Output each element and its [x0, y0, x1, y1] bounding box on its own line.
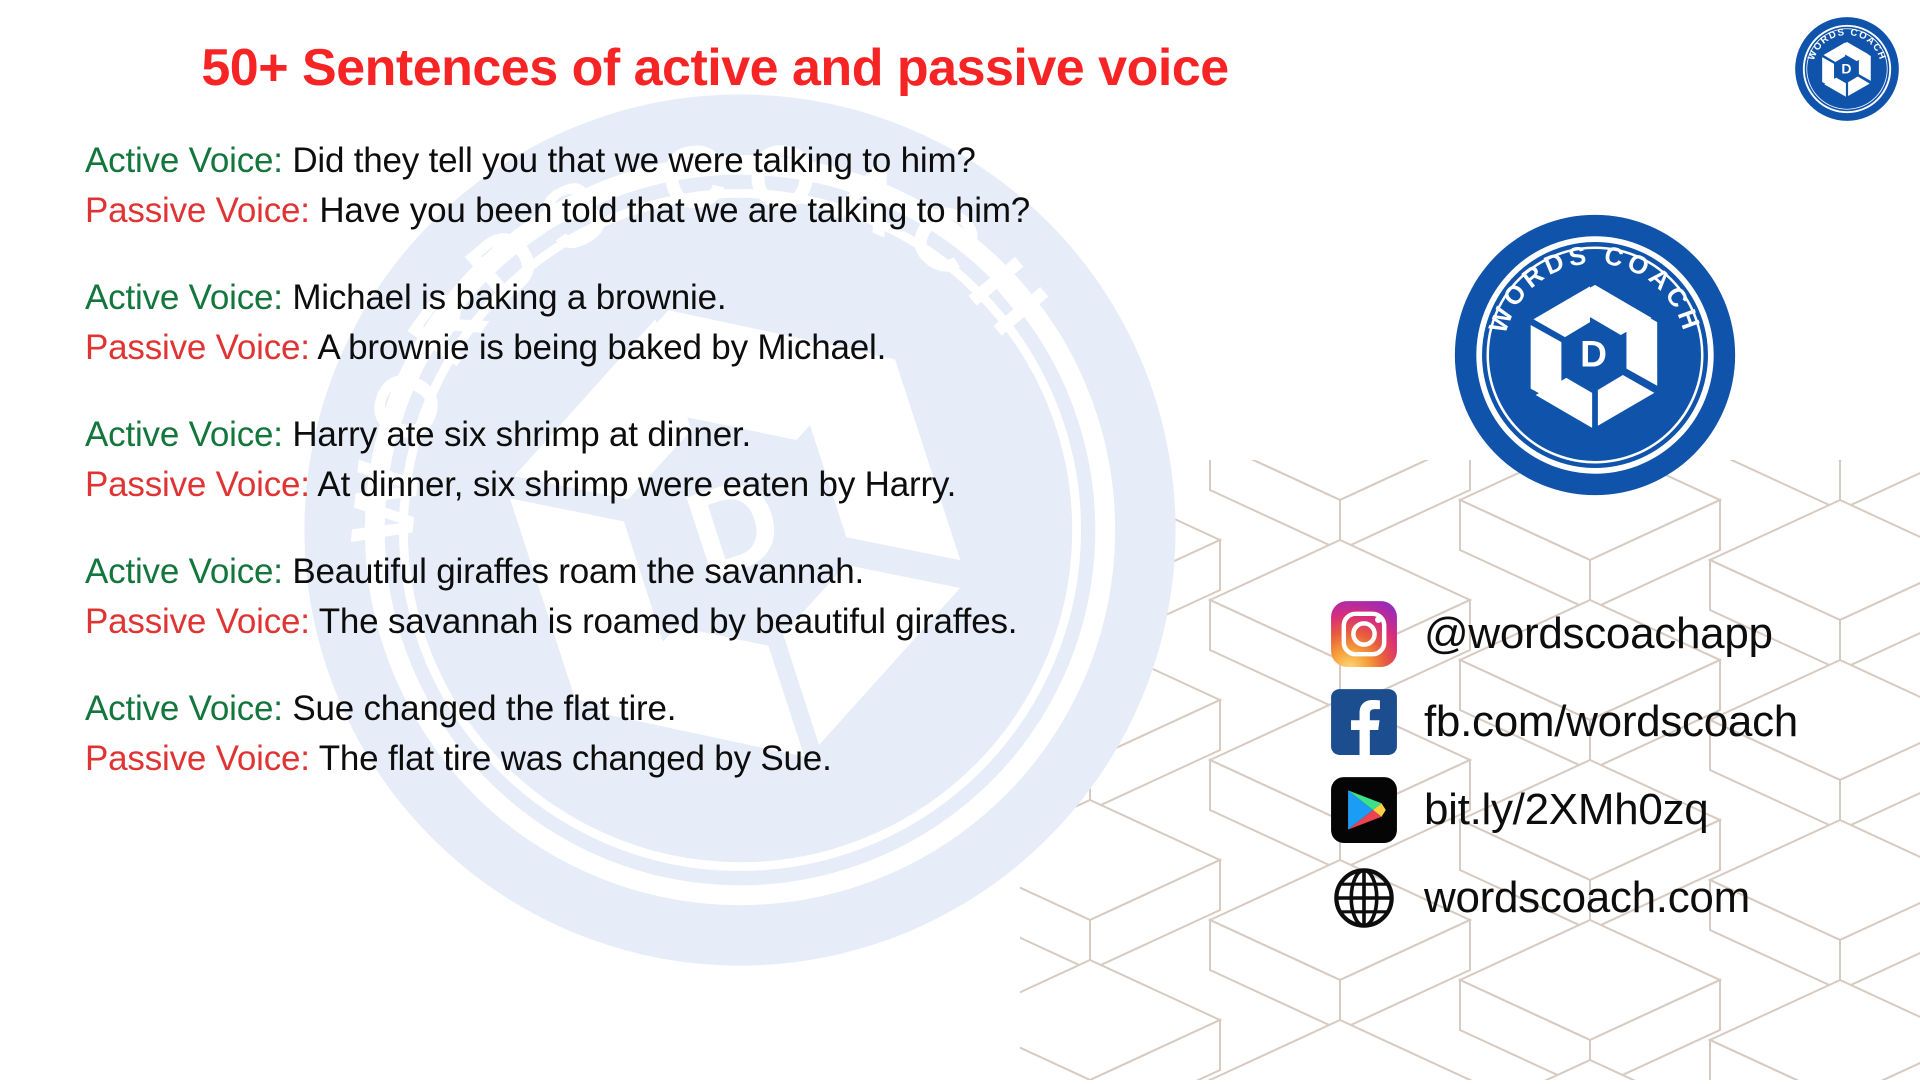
- passive-voice-sentence: The savannah is roamed by beautiful gira…: [319, 602, 1018, 641]
- passive-voice-line: Passive Voice: At dinner, six shrimp wer…: [85, 460, 1265, 510]
- passive-voice-label: Passive Voice:: [85, 465, 310, 504]
- active-voice-sentence: Beautiful giraffes roam the savannah.: [292, 552, 864, 591]
- active-voice-sentence: Michael is baking a brownie.: [292, 278, 726, 317]
- active-voice-label: Active Voice:: [85, 552, 283, 591]
- social-links: @wordscoachapp fb.com/wordscoach bit.ly/…: [1330, 590, 1798, 942]
- active-voice-line: Active Voice: Michael is baking a browni…: [85, 273, 1265, 323]
- passive-voice-sentence: A brownie is being baked by Michael.: [317, 328, 886, 367]
- passive-voice-label: Passive Voice:: [85, 328, 310, 367]
- passive-voice-label: Passive Voice:: [85, 739, 310, 778]
- social-row-website[interactable]: wordscoach.com: [1330, 854, 1798, 942]
- passive-voice-line: Passive Voice: The savannah is roamed by…: [85, 597, 1265, 647]
- passive-voice-line: Passive Voice: A brownie is being baked …: [85, 323, 1265, 373]
- sentence-list: Active Voice: Did they tell you that we …: [85, 136, 1265, 821]
- sentence-pair: Active Voice: Sue changed the flat tire.…: [85, 684, 1265, 784]
- active-voice-line: Active Voice: Sue changed the flat tire.: [85, 684, 1265, 734]
- active-voice-sentence: Sue changed the flat tire.: [292, 689, 676, 728]
- google-play-handle: bit.ly/2XMh0zq: [1424, 788, 1708, 832]
- page-title-text: 50+ Sentences of active and passive voic…: [171, 38, 1748, 98]
- instagram-icon: [1330, 600, 1398, 668]
- svg-text:D: D: [1580, 332, 1607, 374]
- active-voice-sentence: Harry ate six shrimp at dinner.: [292, 415, 751, 454]
- active-voice-label: Active Voice:: [85, 278, 283, 317]
- website-handle: wordscoach.com: [1424, 876, 1750, 920]
- facebook-icon: [1330, 688, 1398, 756]
- active-voice-label: Active Voice:: [85, 415, 283, 454]
- sentence-pair: Active Voice: Harry ate six shrimp at di…: [85, 410, 1265, 510]
- active-voice-line: Active Voice: Beautiful giraffes roam th…: [85, 547, 1265, 597]
- passive-voice-label: Passive Voice:: [85, 191, 310, 230]
- social-row-facebook[interactable]: fb.com/wordscoach: [1330, 678, 1798, 766]
- active-voice-line: Active Voice: Harry ate six shrimp at di…: [85, 410, 1265, 460]
- passive-voice-line: Passive Voice: Have you been told that w…: [85, 186, 1265, 236]
- sentence-pair: Active Voice: Did they tell you that we …: [85, 136, 1265, 236]
- social-row-google-play[interactable]: bit.ly/2XMh0zq: [1330, 766, 1798, 854]
- passive-voice-label: Passive Voice:: [85, 602, 310, 641]
- page-title: 50+ Sentences of active and passive voic…: [0, 38, 1920, 98]
- social-row-instagram[interactable]: @wordscoachapp: [1330, 590, 1798, 678]
- passive-voice-sentence: Have you been told that we are talking t…: [319, 191, 1030, 230]
- sentence-pair: Active Voice: Beautiful giraffes roam th…: [85, 547, 1265, 647]
- passive-voice-sentence: At dinner, six shrimp were eaten by Harr…: [317, 465, 956, 504]
- facebook-handle: fb.com/wordscoach: [1424, 700, 1798, 744]
- svg-text:D: D: [1841, 60, 1851, 76]
- brand-logo-large: WORDS COACH D: [1452, 212, 1738, 498]
- active-voice-sentence: Did they tell you that we were talking t…: [292, 141, 975, 180]
- instagram-handle: @wordscoachapp: [1424, 612, 1773, 656]
- active-voice-label: Active Voice:: [85, 141, 283, 180]
- passive-voice-sentence: The flat tire was changed by Sue.: [319, 739, 832, 778]
- passive-voice-line: Passive Voice: The flat tire was changed…: [85, 734, 1265, 784]
- google-play-icon: [1330, 776, 1398, 844]
- sentence-pair: Active Voice: Michael is baking a browni…: [85, 273, 1265, 373]
- globe-icon: [1330, 864, 1398, 932]
- active-voice-label: Active Voice:: [85, 689, 283, 728]
- active-voice-line: Active Voice: Did they tell you that we …: [85, 136, 1265, 186]
- brand-logo-small: WORDS COACH D: [1793, 15, 1901, 123]
